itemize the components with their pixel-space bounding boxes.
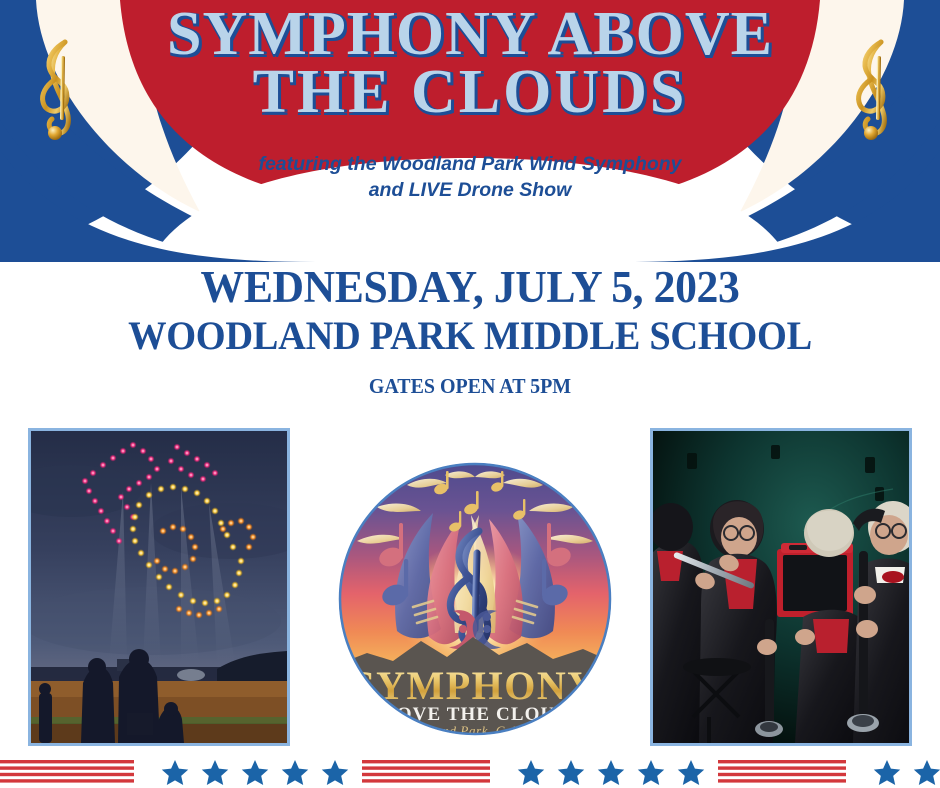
subtitle-line-1: featuring the Woodland Park Wind Symphon… <box>0 152 940 178</box>
symphony-above-the-clouds-logo: SYMPHONY ABOVE THE CLOUDS Woodland Park,… <box>337 461 613 737</box>
event-details: WEDNESDAY, JULY 5, 2023 WOODLAND PARK MI… <box>0 264 940 399</box>
drone-show-photo <box>28 428 290 746</box>
wind-symphony-photo <box>650 428 912 746</box>
treble-clef-icon-right <box>848 34 908 146</box>
clef-bead <box>48 126 62 140</box>
stars-and-stripes-footer <box>0 754 940 788</box>
logo-word-sub: ABOVE THE CLOUDS <box>368 704 582 725</box>
subtitle-line-2: and LIVE Drone Show <box>0 178 940 204</box>
gates-open-time: GATES OPEN AT 5PM <box>24 374 917 399</box>
bunting-header <box>0 0 940 262</box>
logo-word-main: SYMPHONY <box>352 663 597 708</box>
treble-clef-icon-left <box>32 34 92 146</box>
poster-subtitle: featuring the Woodland Park Wind Symphon… <box>0 152 940 203</box>
event-date: WEDNESDAY, JULY 5, 2023 <box>14 264 926 312</box>
event-poster: SYMPHONY ABOVE THE CLOUDS featuring the … <box>0 0 940 788</box>
event-venue: WOODLAND PARK MIDDLE SCHOOL <box>19 314 921 358</box>
